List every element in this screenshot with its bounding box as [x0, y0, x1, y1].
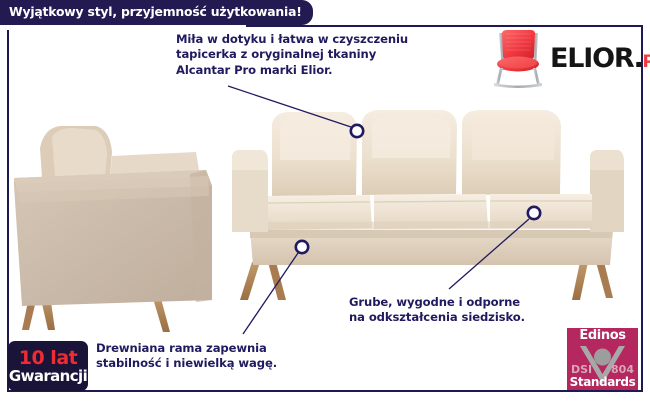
- callout-text-seat: Grube, wygodne i odporne na odkształceni…: [349, 295, 569, 326]
- red-chair-icon: [490, 28, 546, 88]
- warranty-badge: 10 lat Gwarancji: [8, 341, 88, 391]
- warranty-label: Gwarancji: [9, 369, 87, 384]
- callout-text-frame: Drewniana rama zapewnia stabilność i nie…: [96, 341, 311, 372]
- edinos-subtitle: Standards: [567, 376, 638, 388]
- callout-marker-frame: [296, 241, 308, 253]
- warranty-years: 10 lat: [19, 349, 77, 368]
- leader-line-seat: [449, 219, 529, 289]
- infographic-canvas: Wyjątkowy styl, przyjemność użytkowania!…: [0, 0, 650, 401]
- callout-marker-fabric: [351, 125, 363, 137]
- logo-wordmark: ELIOR . PL: [550, 45, 650, 72]
- edinos-right-code: 804: [611, 364, 634, 375]
- leader-line-frame: [243, 253, 298, 334]
- callout-text-fabric: Miła w dotyku i łatwa w czyszczeniu tapi…: [176, 32, 444, 78]
- edinos-certificate-badge: Edinos DSI 804 Standards: [567, 328, 638, 390]
- leader-line-fabric: [228, 86, 351, 127]
- logo-dot: .: [633, 45, 642, 72]
- callout-marker-seat: [528, 207, 540, 219]
- logo-tld-text: PL: [643, 54, 650, 71]
- edinos-left-code: DSI: [571, 364, 592, 375]
- headline-text: Wyjątkowy styl, przyjemność użytkowania!: [9, 6, 302, 18]
- logo-brand-text: ELIOR: [550, 45, 633, 72]
- elior-logo[interactable]: ELIOR . PL: [490, 27, 640, 89]
- headline-banner: Wyjątkowy styl, przyjemność użytkowania!: [0, 0, 313, 25]
